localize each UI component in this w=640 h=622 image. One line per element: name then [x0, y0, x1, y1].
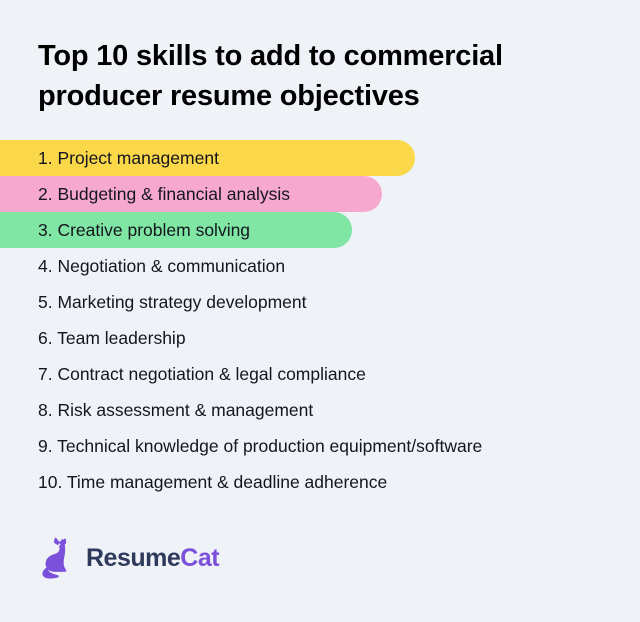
list-item: 8. Risk assessment & management [0, 392, 640, 428]
skill-label: 3. Creative problem solving [0, 212, 250, 248]
list-item: 4. Negotiation & communication [0, 248, 640, 284]
skill-label: 7. Contract negotiation & legal complian… [0, 356, 366, 392]
list-item: 3. Creative problem solving [0, 212, 640, 248]
logo-word-resume: Resume [86, 546, 180, 571]
cat-icon [40, 536, 80, 580]
page-title: Top 10 skills to add to commercial produ… [38, 36, 613, 116]
resumecat-logo: ResumeCat [40, 536, 219, 580]
logo-wordmark: ResumeCat [86, 546, 219, 571]
list-item: 7. Contract negotiation & legal complian… [0, 356, 640, 392]
list-item: 10. Time management & deadline adherence [0, 464, 640, 500]
list-item: 6. Team leadership [0, 320, 640, 356]
skill-label: 8. Risk assessment & management [0, 392, 313, 428]
skills-list: 1. Project management2. Budgeting & fina… [0, 140, 640, 500]
skill-label: 10. Time management & deadline adherence [0, 464, 387, 500]
list-item: 1. Project management [0, 140, 640, 176]
infographic-card: Top 10 skills to add to commercial produ… [0, 0, 640, 622]
skill-label: 2. Budgeting & financial analysis [0, 176, 290, 212]
skill-label: 6. Team leadership [0, 320, 186, 356]
skill-label: 9. Technical knowledge of production equ… [0, 428, 482, 464]
list-item: 5. Marketing strategy development [0, 284, 640, 320]
skill-label: 4. Negotiation & communication [0, 248, 285, 284]
skill-label: 5. Marketing strategy development [0, 284, 306, 320]
list-item: 2. Budgeting & financial analysis [0, 176, 640, 212]
skill-label: 1. Project management [0, 140, 219, 176]
list-item: 9. Technical knowledge of production equ… [0, 428, 640, 464]
logo-word-cat: Cat [180, 546, 219, 571]
